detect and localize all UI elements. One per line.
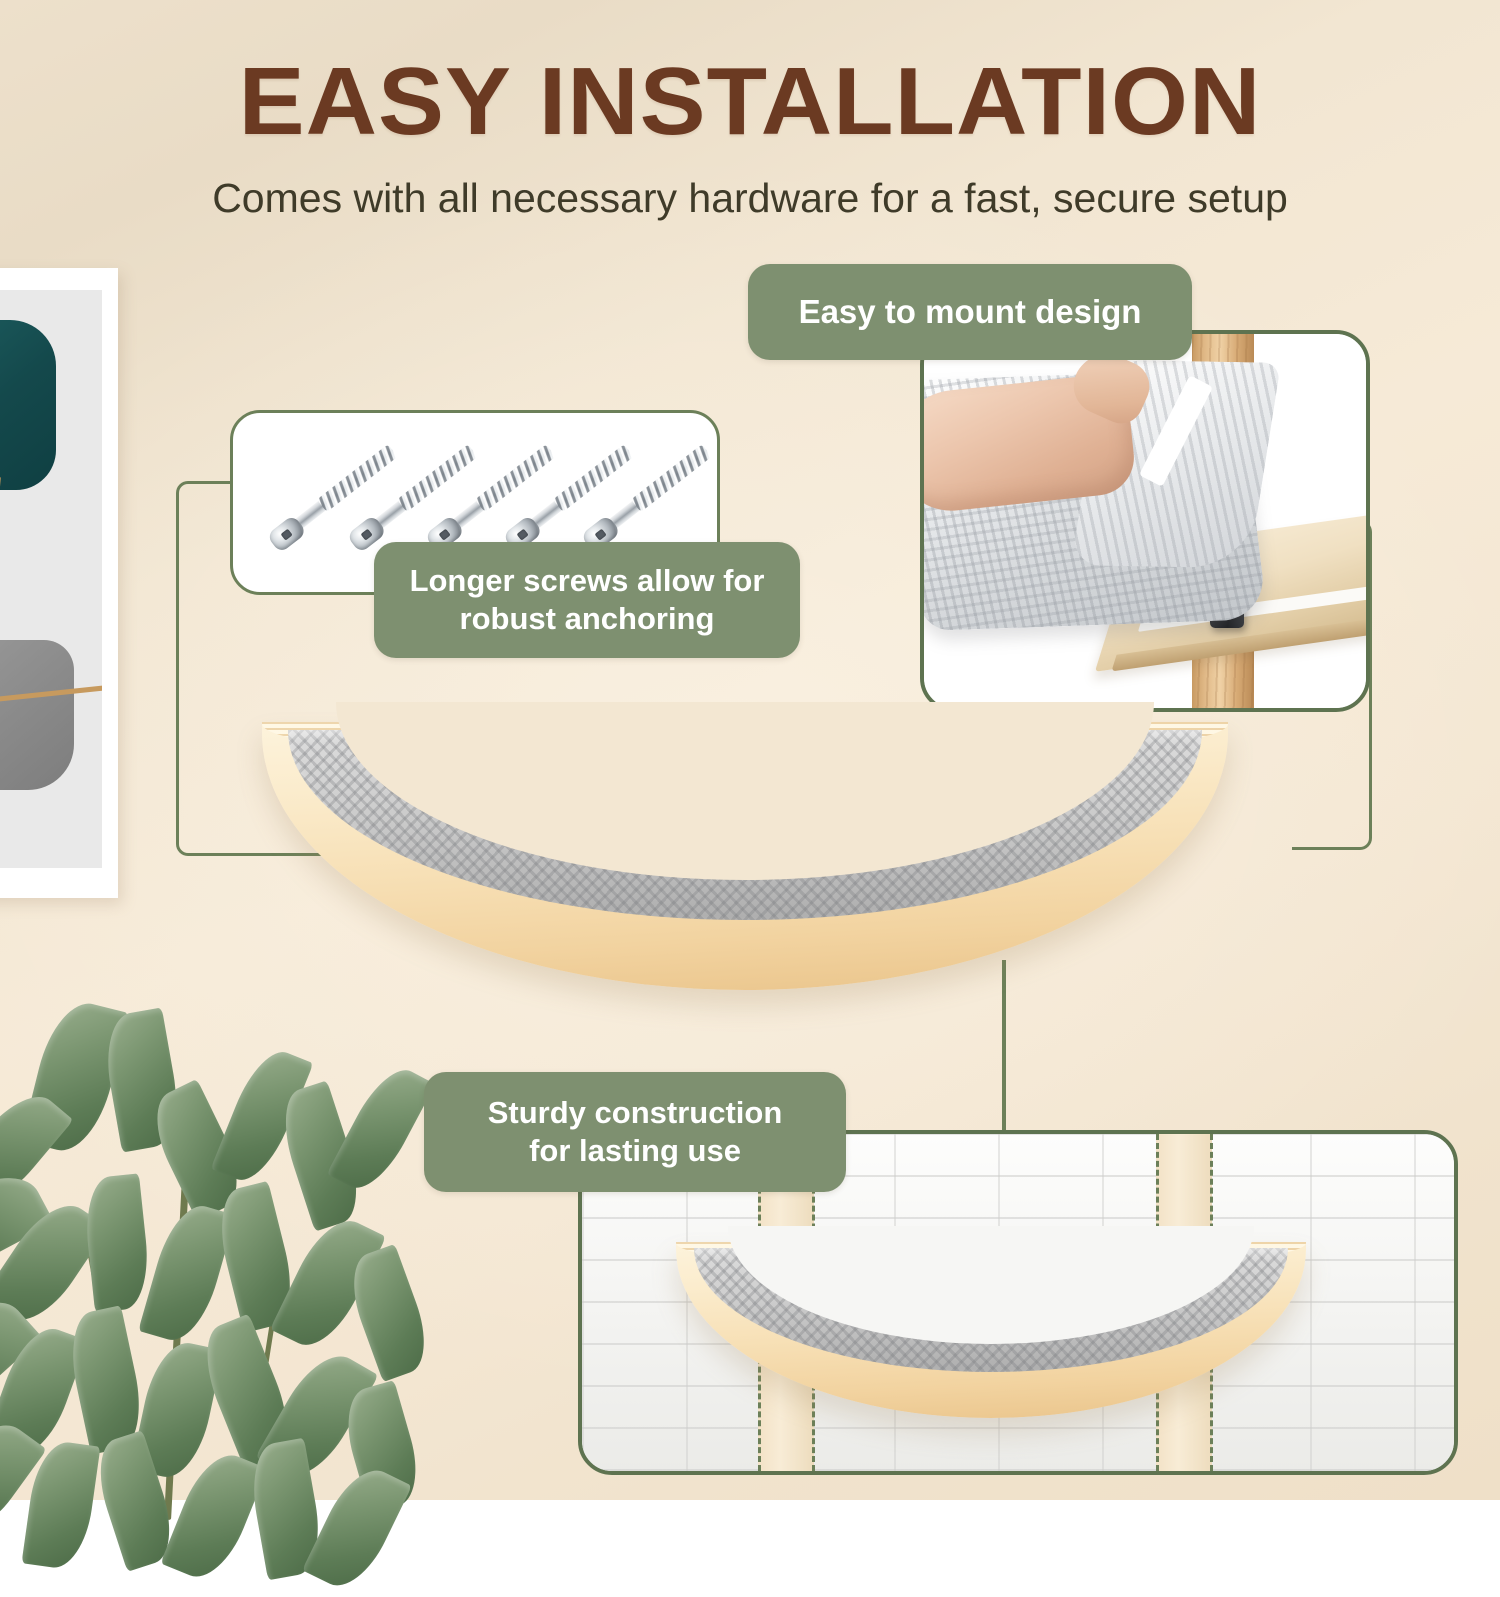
mounting-demo-photo (920, 330, 1370, 712)
infographic-canvas: EASY INSTALLATION Comes with all necessa… (0, 0, 1500, 1500)
art-mat (0, 290, 102, 868)
hero-hammock (262, 722, 1228, 990)
art-gray-shape (0, 640, 74, 790)
callout-sturdy-line1: Sturdy construction (488, 1094, 783, 1132)
rubber-plant (0, 990, 500, 1510)
callout-easy-to-mount[interactable]: Easy to mount design (748, 264, 1192, 360)
page-subtitle: Comes with all necessary hardware for a … (0, 176, 1500, 221)
plant-leaf (81, 1173, 153, 1312)
callout-longer-screws[interactable]: Longer screws allow for robust anchoring (374, 542, 800, 658)
callout-longer-screws-line2: robust anchoring (460, 600, 715, 638)
wall-installed-hammock (676, 1242, 1306, 1418)
page-title: EASY INSTALLATION (0, 54, 1500, 150)
art-teal-shape (0, 320, 56, 490)
plant-leaf (302, 1459, 412, 1597)
abstract-wall-art (0, 268, 118, 898)
callout-sturdy-construction[interactable]: Sturdy construction for lasting use (424, 1072, 846, 1192)
callout-longer-screws-line1: Longer screws allow for (410, 562, 765, 600)
callout-sturdy-line2: for lasting use (529, 1132, 741, 1170)
header: EASY INSTALLATION Comes with all necessa… (0, 0, 1500, 221)
callout-easy-to-mount-label: Easy to mount design (799, 292, 1142, 332)
